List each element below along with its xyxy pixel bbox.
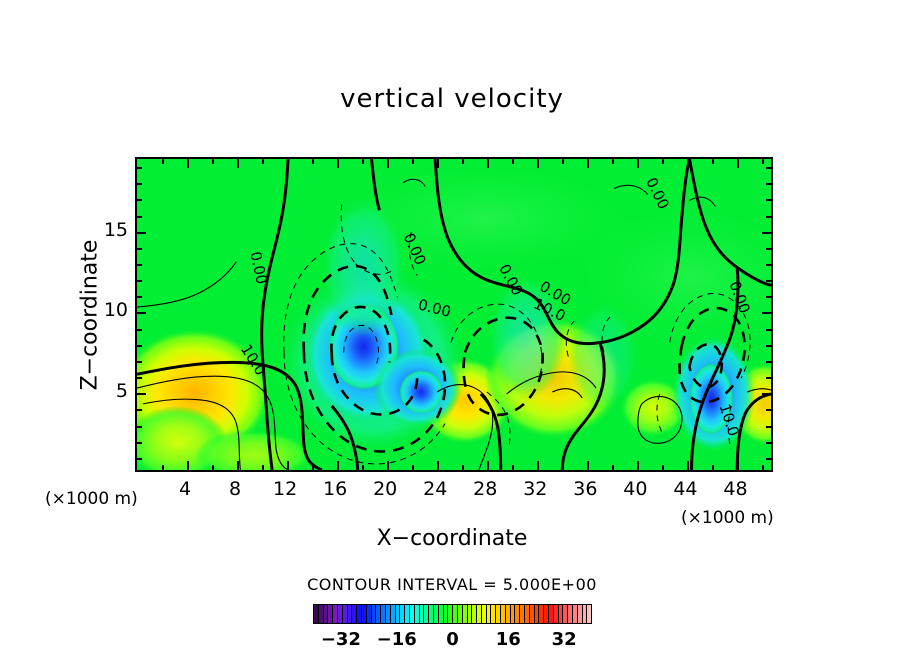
y-tick-label: 15: [104, 219, 128, 241]
axis-tick: [462, 465, 464, 470]
colorbar-segment: [587, 605, 591, 623]
axis-tick: [137, 296, 142, 298]
axis-tick: [387, 461, 389, 470]
axis-tick: [337, 461, 339, 470]
axis-tick: [137, 199, 142, 201]
axis-tick: [137, 216, 142, 218]
axis-tick: [462, 159, 464, 164]
axis-tick: [762, 159, 764, 164]
colorbar-tick-label: −32: [321, 629, 361, 650]
axis-tick: [562, 159, 564, 164]
x-unit-left: (×1000 m): [45, 489, 138, 509]
axis-tick: [137, 183, 142, 185]
axis-tick: [766, 442, 771, 444]
colorbar: [313, 604, 592, 624]
axis-tick: [762, 232, 771, 234]
axis-tick: [137, 458, 142, 460]
x-tick-label: 12: [273, 478, 297, 500]
x-tick-label: 40: [623, 478, 647, 500]
axis-tick: [162, 159, 164, 164]
colorbar-tick-label: −16: [377, 629, 417, 650]
colorbar-tick-label: 32: [552, 629, 577, 650]
page-title: vertical velocity: [0, 84, 904, 114]
axis-tick: [637, 461, 639, 470]
axis-tick: [766, 264, 771, 266]
axis-tick: [187, 159, 189, 168]
axis-tick: [762, 312, 771, 314]
x-tick-label: 20: [373, 478, 397, 500]
axis-tick: [662, 465, 664, 470]
axis-tick: [662, 159, 664, 164]
axis-tick: [137, 232, 146, 234]
axis-tick: [212, 159, 214, 164]
axis-tick: [766, 199, 771, 201]
axis-tick: [766, 458, 771, 460]
axis-tick: [262, 465, 264, 470]
x-tick-label: 48: [723, 478, 747, 500]
y-axis-label: Z−coordinate: [78, 195, 103, 435]
axis-tick: [312, 465, 314, 470]
axis-tick: [137, 377, 142, 379]
axis-tick: [137, 393, 146, 395]
axis-tick: [262, 159, 264, 164]
axis-tick: [137, 167, 142, 169]
axis-tick: [766, 167, 771, 169]
axis-tick: [537, 461, 539, 470]
contour-plot: 0.00 0.00 0.00 0.00 0.00 0.00 10.0 10.0 …: [135, 157, 773, 472]
x-axis-label: X−coordinate: [0, 526, 904, 551]
axis-tick: [512, 465, 514, 470]
axis-tick: [766, 296, 771, 298]
axis-tick: [212, 465, 214, 470]
axis-tick: [412, 465, 414, 470]
axis-tick: [137, 329, 142, 331]
axis-tick: [612, 465, 614, 470]
x-tick-label: 28: [473, 478, 497, 500]
axis-tick: [437, 461, 439, 470]
y-tick-label: 10: [104, 299, 128, 321]
axis-tick: [137, 345, 142, 347]
axis-tick: [587, 159, 589, 168]
axis-tick: [337, 159, 339, 168]
axis-tick: [362, 465, 364, 470]
x-tick-label: 24: [423, 478, 447, 500]
axis-tick: [137, 264, 142, 266]
axis-tick: [737, 159, 739, 168]
axis-tick: [162, 465, 164, 470]
colorbar-tick-label: 0: [446, 629, 459, 650]
axis-tick: [137, 426, 142, 428]
axis-tick: [766, 183, 771, 185]
axis-tick: [766, 361, 771, 363]
axis-tick: [712, 159, 714, 164]
axis-tick: [237, 461, 239, 470]
axis-tick: [766, 426, 771, 428]
axis-tick: [137, 312, 146, 314]
axis-tick: [766, 280, 771, 282]
axis-tick: [712, 465, 714, 470]
axis-tick: [437, 159, 439, 168]
axis-tick: [487, 159, 489, 168]
axis-tick: [387, 159, 389, 168]
axis-tick: [537, 159, 539, 168]
axis-tick: [137, 280, 142, 282]
axis-tick: [287, 461, 289, 470]
axis-tick: [766, 345, 771, 347]
axis-tick: [687, 461, 689, 470]
axis-tick: [137, 409, 142, 411]
colorbar-tick-label: 16: [496, 629, 521, 650]
y-tick-label: 5: [116, 380, 128, 402]
axis-tick: [762, 465, 764, 470]
axis-tick: [766, 248, 771, 250]
axis-tick: [362, 159, 364, 164]
axis-tick: [412, 159, 414, 164]
axis-tick: [237, 159, 239, 168]
x-tick-label: 36: [573, 478, 597, 500]
axis-tick: [137, 361, 142, 363]
axis-tick: [637, 159, 639, 168]
axis-tick: [137, 248, 142, 250]
axis-tick: [312, 159, 314, 164]
axis-tick: [766, 329, 771, 331]
x-tick-label: 44: [673, 478, 697, 500]
axis-tick: [562, 465, 564, 470]
axis-tick: [512, 159, 514, 164]
axis-tick: [766, 409, 771, 411]
axis-tick: [766, 377, 771, 379]
x-tick-label: 4: [179, 478, 191, 500]
contour-field: 0.00 0.00 0.00 0.00 0.00 0.00 10.0 10.0 …: [137, 159, 771, 470]
axis-tick: [687, 159, 689, 168]
x-tick-label: 16: [323, 478, 347, 500]
axis-tick: [187, 461, 189, 470]
axis-tick: [587, 461, 589, 470]
axis-tick: [737, 461, 739, 470]
axis-tick: [487, 461, 489, 470]
axis-tick: [287, 159, 289, 168]
axis-tick: [766, 216, 771, 218]
axis-tick: [137, 442, 142, 444]
axis-tick: [762, 393, 771, 395]
x-unit-right: (×1000 m): [681, 508, 774, 528]
axis-tick: [612, 159, 614, 164]
x-tick-label: 8: [229, 478, 241, 500]
x-tick-label: 32: [523, 478, 547, 500]
contour-interval-caption: CONTOUR INTERVAL = 5.000E+00: [0, 575, 904, 594]
